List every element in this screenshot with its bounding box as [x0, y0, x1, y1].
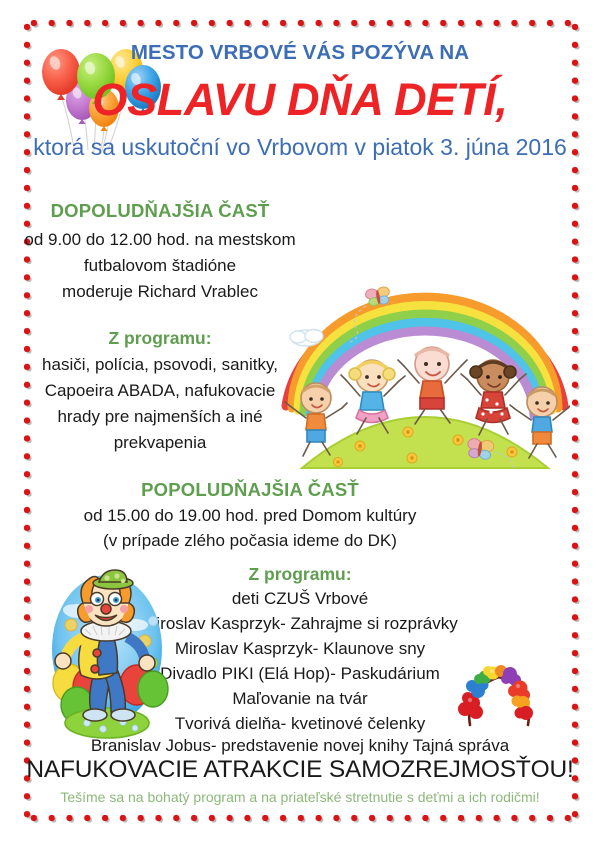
flower-headband-icon	[452, 655, 547, 740]
afternoon-heading: POPOLUDŇAJŠIA ČASŤ	[10, 479, 490, 501]
morning-line-2: futbalovom štadióne	[10, 256, 310, 276]
morning-program-heading: Z programu:	[10, 328, 310, 349]
page-title: OSLAVU DŇA DETÍ,	[0, 74, 600, 126]
morning-line-3: moderuje Richard Vrablec	[10, 282, 310, 302]
clown-illustration-icon	[35, 565, 180, 755]
afternoon-line-1: od 15.00 do 19.00 hod. pred Domom kultúr…	[10, 506, 490, 526]
morning-program-line-1: hasiči, polícia, psovodi, sanitky,	[10, 355, 310, 375]
invite-line: MESTO VRBOVÉ VÁS POZÝVA NA	[0, 41, 600, 65]
shout-line: NAFUKOVACIE ATRAKCIE SAMOZREJMOSŤOU!	[0, 756, 600, 784]
poster: MESTO VRBOVÉ VÁS POZÝVA NA OSLAVU DŇA DE…	[0, 0, 600, 849]
afternoon-line-2: (v prípade zlého počasia ideme do DK)	[10, 531, 490, 551]
footer-line: Tešíme sa na bohatý program a na priateľ…	[0, 789, 600, 805]
morning-program-line-4: prekvapenia	[10, 433, 310, 453]
morning-program-line-3: hrady pre najmenších a iné	[10, 407, 310, 427]
event-date-line: ktorá sa uskutoční vo Vrbovom v piatok 3…	[0, 134, 600, 161]
morning-heading: DOPOLUDŇAJŠIA ČASŤ	[10, 200, 310, 222]
morning-program-line-2: Capoeira ABADA, nafukovacie	[10, 381, 310, 401]
rainbow-children-illustration-icon	[280, 280, 570, 475]
morning-line-1: od 9.00 do 12.00 hod. na mestskom	[10, 230, 310, 250]
